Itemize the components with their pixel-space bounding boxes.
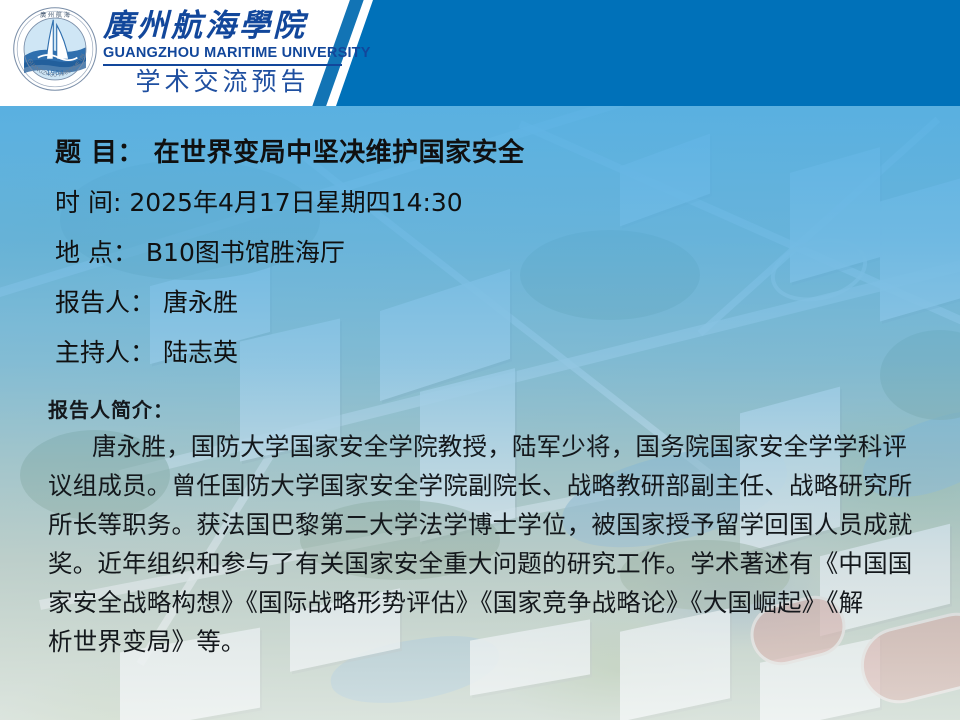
event-speaker-value: 唐永胜 (163, 288, 238, 317)
event-time-label: 时 间: (55, 188, 121, 217)
bio-line: 唐永胜，国防大学国家安全学院教授，陆军少将，国务院国家安全学学科评 (48, 427, 924, 466)
event-speaker-row: 报告人： 唐永胜 (55, 278, 915, 328)
event-host-value: 陆志英 (163, 338, 238, 367)
bio-line: 析世界变局》等。 (48, 622, 924, 661)
banner-subtitle: 学术交流预告 (103, 67, 342, 97)
event-host-label: 主持人： (55, 338, 155, 367)
svg-text:廣 州 航 海: 廣 州 航 海 (40, 11, 70, 19)
speaker-bio-block: 报告人简介： 唐永胜，国防大学国家安全学院教授，陆军少将，国务院国家安全学学科评… (48, 393, 924, 661)
header-wordmark: 廣州航海學院 GUANGZHOU MARITIME UNIVERSITY 学术交… (103, 8, 353, 97)
event-title-value: 在世界变局中坚决维护国家安全 (154, 138, 525, 168)
event-title-label: 题 目： (55, 138, 144, 168)
speaker-bio-text: 唐永胜，国防大学国家安全学院教授，陆军少将，国务院国家安全学学科评 议组成员。曾… (48, 427, 924, 661)
bio-line: 奖。近年组织和参与了有关国家安全重大问题的研究工作。学术著述有《中国国 (48, 544, 924, 583)
event-title-row: 题 目： 在世界变局中坚决维护国家安全 (55, 128, 915, 178)
announcement-poster: 1964 廣 州 航 海 GUANGZHOU MARITIME UNIVERSI… (0, 0, 960, 720)
poster-header: 1964 廣 州 航 海 GUANGZHOU MARITIME UNIVERSI… (0, 0, 960, 106)
event-info-block: 题 目： 在世界变局中坚决维护国家安全 时 间: 2025年4月17日星期四14… (55, 128, 915, 378)
event-time-value: 2025年4月17日星期四14:30 (129, 188, 462, 217)
university-seal-logo: 1964 廣 州 航 海 GUANGZHOU MARITIME UNIVERSI… (12, 6, 98, 92)
event-host-row: 主持人： 陆志英 (55, 328, 915, 378)
university-name-en: GUANGZHOU MARITIME UNIVERSITY (103, 45, 353, 62)
speaker-bio-heading: 报告人简介： (48, 393, 924, 427)
event-speaker-label: 报告人： (55, 288, 155, 317)
bio-line: 所长等职务。获法国巴黎第二大学法学博士学位，被国家授予留学回国人员成就 (48, 505, 924, 544)
university-name-cn: 廣州航海學院 (103, 8, 353, 44)
wordmark-divider (103, 64, 342, 66)
event-place-label: 地 点： (55, 238, 138, 267)
event-time-row: 时 间: 2025年4月17日星期四14:30 (55, 178, 915, 228)
bio-line: 家安全战略构想》《国际战略形势评估》《国家竞争战略论》《大国崛起》《解 (48, 583, 924, 622)
event-place-row: 地 点： B10图书馆胜海厅 (55, 228, 915, 278)
event-place-value: B10图书馆胜海厅 (146, 238, 345, 267)
bio-line: 议组成员。曾任国防大学国家安全学院副院长、战略教研部副主任、战略研究所 (48, 466, 924, 505)
